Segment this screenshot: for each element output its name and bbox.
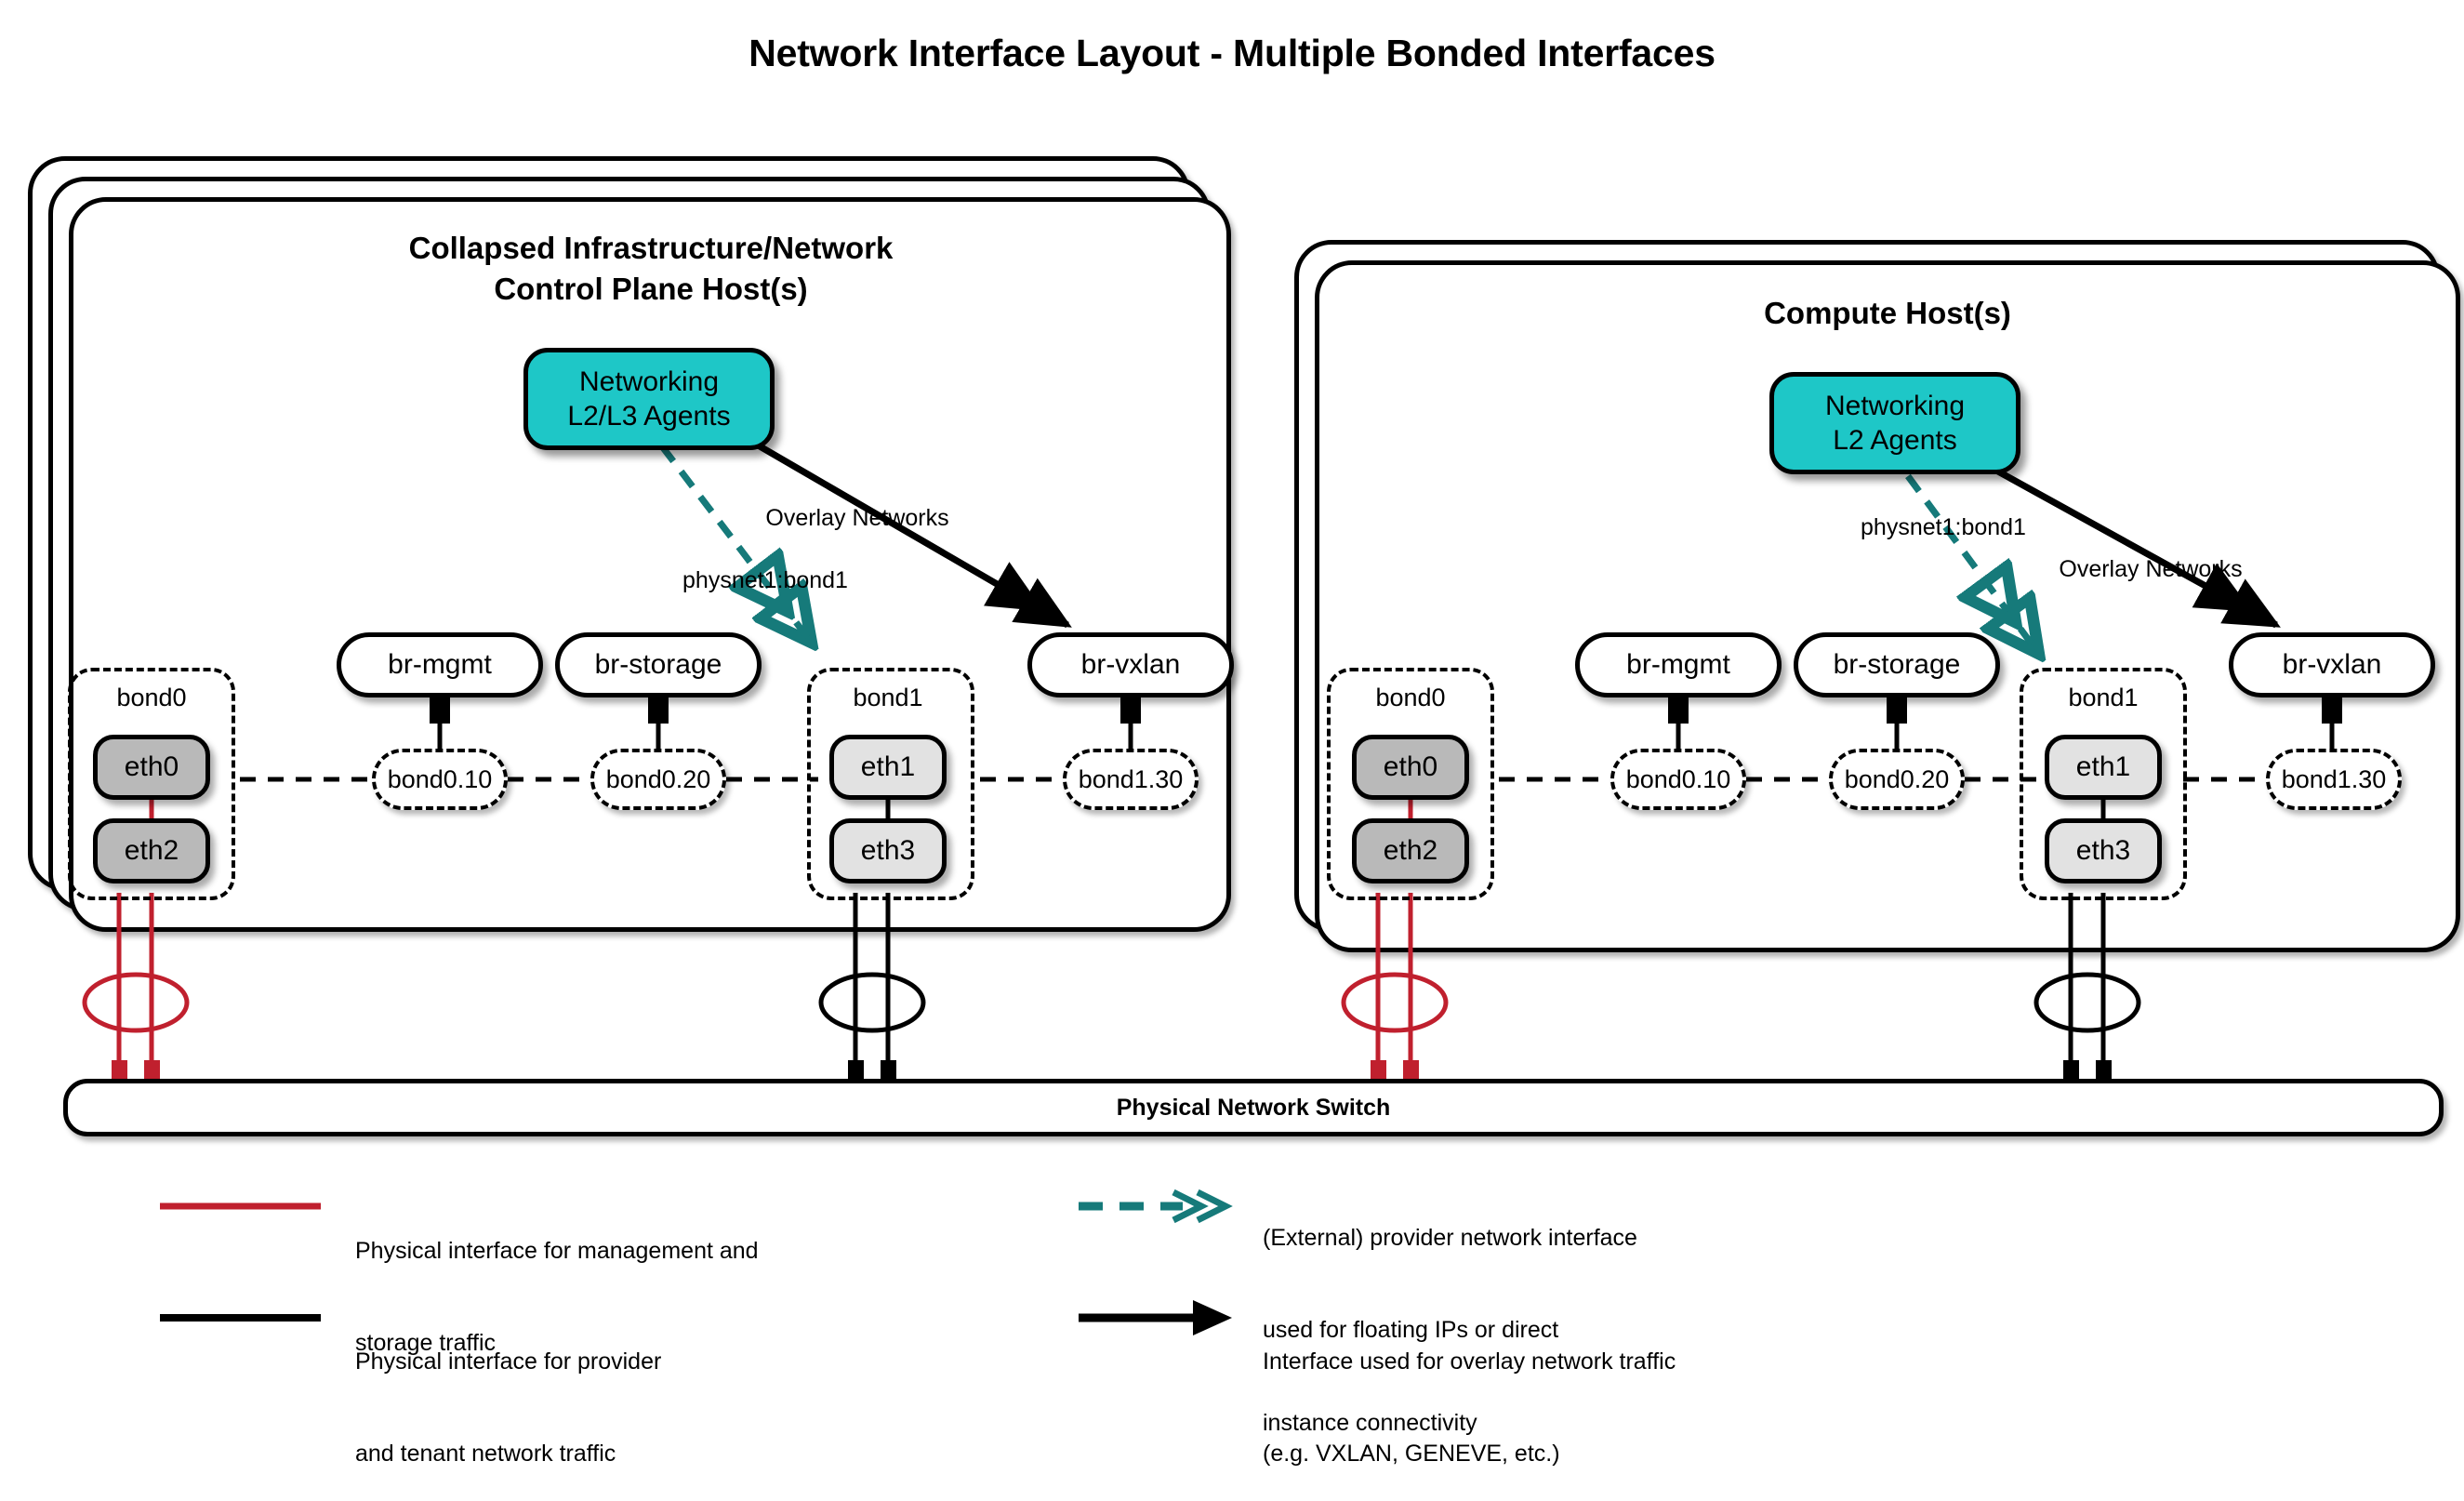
- vlan-label: bond1.30: [1079, 765, 1184, 794]
- host-title-compute-line1: Compute Host(s): [1764, 296, 2011, 331]
- legend-item-3-text: Interface used for overlay network traff…: [1263, 1284, 1676, 1501]
- bridge-label: br-vxlan: [1081, 649, 1181, 681]
- bridge-label: br-storage: [1834, 649, 1961, 681]
- host-title-control-plane-line2: Control Plane Host(s): [494, 272, 807, 307]
- page-title: Network Interface Layout - Multiple Bond…: [748, 32, 1716, 76]
- legend-line: (e.g. VXLAN, GENEVE, etc.): [1263, 1439, 1676, 1469]
- interface-label: eth2: [1384, 835, 1437, 867]
- physical-network-switch[interactable]: Physical Network Switch: [63, 1079, 2444, 1136]
- agent-box-control-plane[interactable]: Networking L2/L3 Agents: [523, 348, 775, 450]
- legend-line: Interface used for overlay network traff…: [1263, 1347, 1676, 1377]
- agent-label-line1: Networking: [579, 365, 719, 400]
- interface-eth2-right[interactable]: eth2: [1352, 818, 1469, 883]
- edge-label-physnet-right: physnet1:bond1: [1861, 514, 2026, 541]
- interface-eth0-right[interactable]: eth0: [1352, 735, 1469, 800]
- bridge-br-vxlan-right[interactable]: br-vxlan: [2229, 632, 2435, 697]
- legend-item-1-text: Physical interface for provider and tena…: [355, 1284, 661, 1501]
- bridge-br-mgmt-left[interactable]: br-mgmt: [337, 632, 543, 697]
- bond0-label-right: bond0: [1375, 684, 1445, 712]
- interface-label: eth2: [125, 835, 179, 867]
- interface-label: eth0: [125, 751, 179, 783]
- edge-label-overlay-right: Overlay Networks: [2059, 556, 2242, 583]
- bridge-br-mgmt-right[interactable]: br-mgmt: [1575, 632, 1782, 697]
- bond0-label-left: bond0: [116, 684, 186, 712]
- bridge-label: br-mgmt: [388, 649, 492, 681]
- vlan-bond0-20-left[interactable]: bond0.20: [590, 749, 726, 810]
- bond1-label-right: bond1: [2068, 684, 2138, 712]
- vlan-bond0-10-right[interactable]: bond0.10: [1610, 749, 1746, 810]
- interface-eth2-left[interactable]: eth2: [93, 818, 210, 883]
- agent-box-compute[interactable]: Networking L2 Agents: [1769, 372, 2020, 474]
- interface-label: eth0: [1384, 751, 1437, 783]
- interface-eth3-right[interactable]: eth3: [2045, 818, 2162, 883]
- vlan-label: bond0.10: [388, 765, 493, 794]
- agent-label-line2: L2 Agents: [1833, 423, 1956, 458]
- vlan-bond0-20-right[interactable]: bond0.20: [1829, 749, 1965, 810]
- bridge-br-vxlan-left[interactable]: br-vxlan: [1027, 632, 1234, 697]
- agent-label-line2: L2/L3 Agents: [567, 399, 730, 434]
- edge-label-overlay-left: Overlay Networks: [765, 505, 948, 532]
- vlan-label: bond0.10: [1626, 765, 1731, 794]
- interface-eth1-left[interactable]: eth1: [829, 735, 947, 800]
- interface-eth1-right[interactable]: eth1: [2045, 735, 2162, 800]
- vlan-label: bond1.30: [2282, 765, 2387, 794]
- interface-label: eth1: [2076, 751, 2130, 783]
- vlan-label: bond0.20: [606, 765, 711, 794]
- legend-line: (External) provider network interface: [1263, 1223, 1637, 1254]
- host-card-control-plane[interactable]: [69, 197, 1231, 932]
- interface-eth0-left[interactable]: eth0: [93, 735, 210, 800]
- bridge-br-storage-right[interactable]: br-storage: [1794, 632, 2000, 697]
- legend-line: and tenant network traffic: [355, 1439, 661, 1469]
- bond1-label-left: bond1: [853, 684, 922, 712]
- bridge-label: br-vxlan: [2283, 649, 2382, 681]
- vlan-bond0-10-left[interactable]: bond0.10: [372, 749, 508, 810]
- interface-label: eth3: [861, 835, 915, 867]
- vlan-bond1-30-left[interactable]: bond1.30: [1063, 749, 1199, 810]
- agent-label-line1: Networking: [1825, 389, 1965, 424]
- bridge-label: br-storage: [595, 649, 722, 681]
- interface-eth3-left[interactable]: eth3: [829, 818, 947, 883]
- bridge-label: br-mgmt: [1626, 649, 1730, 681]
- legend-line: Physical interface for provider: [355, 1347, 661, 1377]
- host-title-control-plane-line1: Collapsed Infrastructure/Network: [409, 231, 894, 266]
- vlan-label: bond0.20: [1845, 765, 1950, 794]
- bridge-br-storage-left[interactable]: br-storage: [555, 632, 762, 697]
- switch-label: Physical Network Switch: [1117, 1095, 1391, 1122]
- edge-label-physnet-left: physnet1:bond1: [682, 567, 848, 594]
- interface-label: eth3: [2076, 835, 2130, 867]
- legend-line: Physical interface for management and: [355, 1236, 759, 1267]
- vlan-bond1-30-right[interactable]: bond1.30: [2266, 749, 2402, 810]
- interface-label: eth1: [861, 751, 915, 783]
